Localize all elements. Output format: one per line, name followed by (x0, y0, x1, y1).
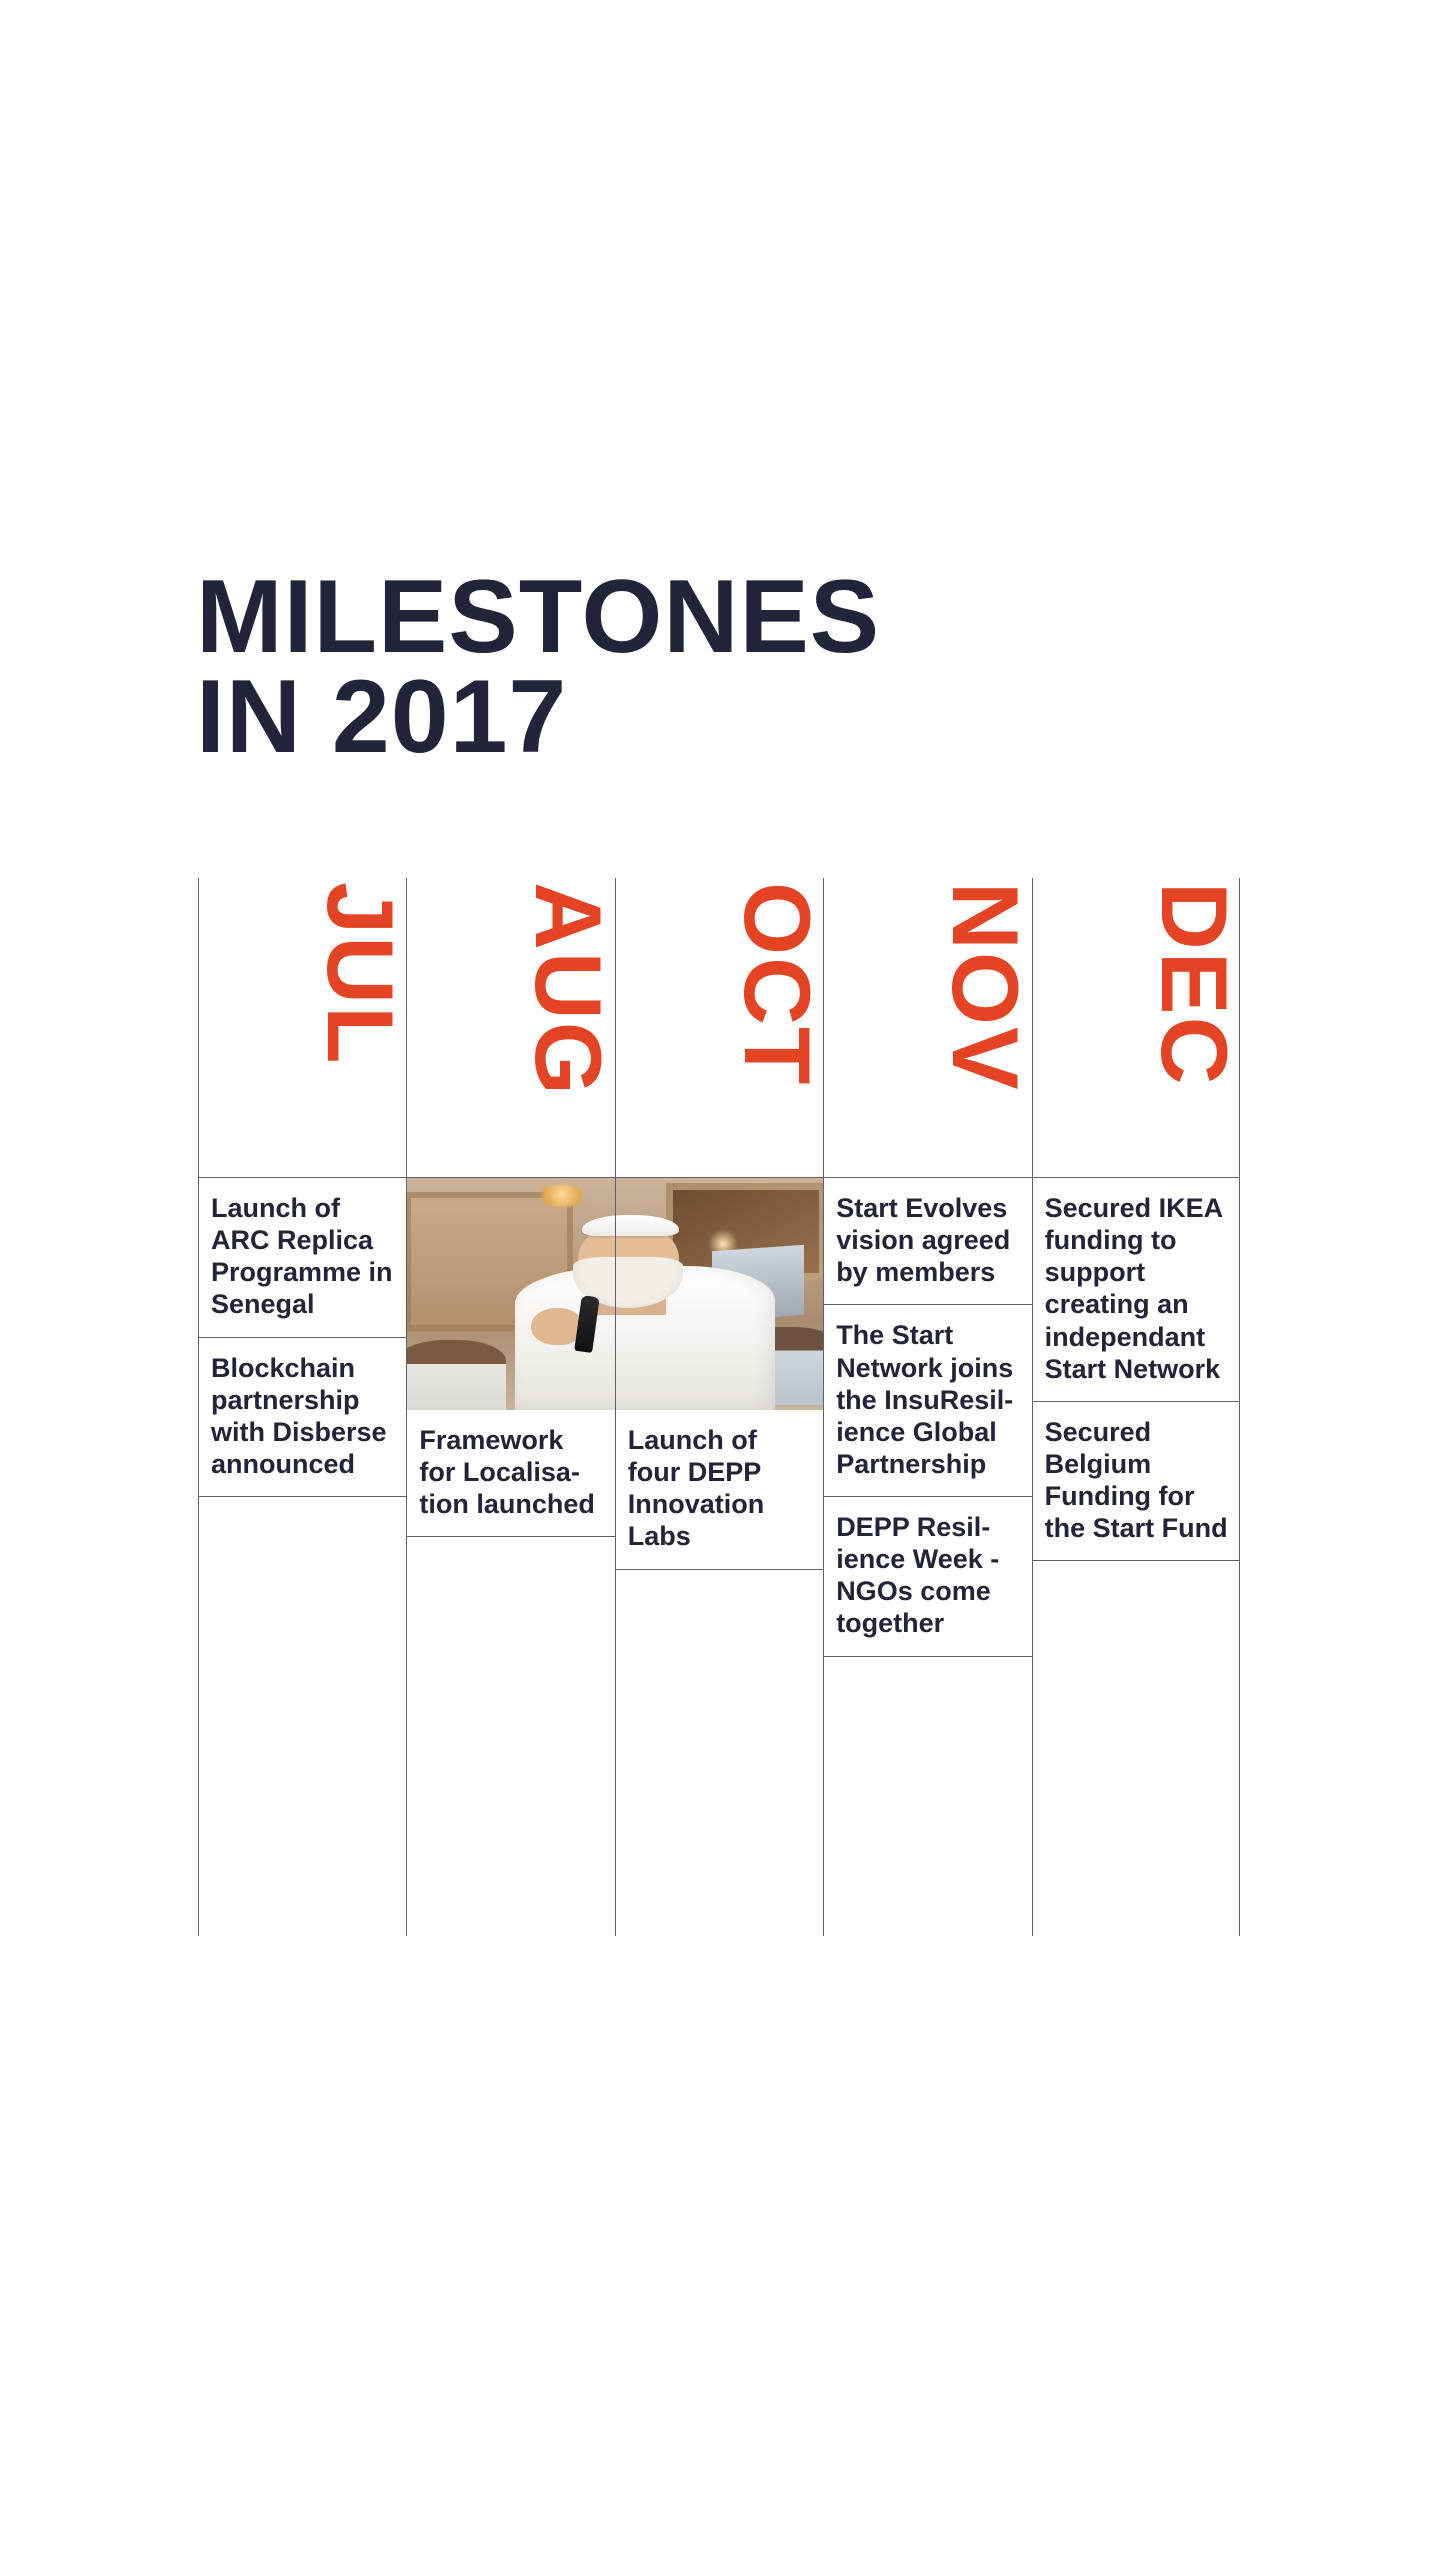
milestone-cell: Block­chain partner­ship with Disberse a… (199, 1338, 406, 1498)
page-title: MILESTONES IN 2017 (196, 568, 1196, 768)
photo-speaker-cap (582, 1215, 615, 1236)
month-column-dec: DEC Secured IKEA funding to sup­port cre… (1032, 878, 1240, 1936)
milestone-cell: Secured IKEA funding to sup­port creatin… (1033, 1178, 1239, 1402)
milestones-infographic-page: MILESTONES IN 2017 JUL Launch of ARC Rep… (0, 0, 1440, 2560)
empty-cell (199, 1497, 406, 1936)
page-title-line-1: MILESTONES (196, 568, 1196, 668)
month-label-jul: JUL (199, 878, 407, 1178)
month-header-nov: NOV (824, 878, 1031, 1178)
milestone-photo (407, 1178, 614, 1410)
month-label-nov: NOV (824, 878, 1032, 1178)
milestone-cell: Frame­work for Localisa­tion launched (407, 1410, 614, 1537)
month-body-aug: Frame­work for Localisa­tion launched (407, 1178, 614, 1936)
empty-cell (616, 1570, 823, 1937)
month-label-aug: AUG (407, 878, 615, 1178)
milestone-photo-continued (616, 1178, 823, 1410)
milestones-timeline: JUL Launch of ARC Replica Pro­gramme in … (198, 878, 1240, 1936)
empty-cell (1033, 1561, 1239, 1936)
month-body-nov: Start Evolves vision agreed by members T… (824, 1178, 1031, 1936)
month-header-dec: DEC (1033, 878, 1239, 1178)
milestone-cell: Secured Belgium Funding for the Start Fu… (1033, 1402, 1239, 1562)
month-body-dec: Secured IKEA funding to sup­port creatin… (1033, 1178, 1239, 1936)
milestone-cell: Launch of four DEPP Innova­tion Labs (616, 1410, 823, 1570)
milestone-cell: The Start Network joins the In­suResil­i… (824, 1305, 1031, 1497)
month-header-jul: JUL (199, 878, 406, 1178)
month-label-oct: OCT (616, 878, 824, 1178)
month-label-dec: DEC (1033, 878, 1241, 1178)
milestone-cell: DEPP Resil­ience Week - NGOs come to­get… (824, 1497, 1031, 1657)
empty-cell (824, 1657, 1031, 1937)
page-title-line-2: IN 2017 (196, 668, 1196, 768)
milestone-cell: Launch of ARC Replica Pro­gramme in Sene… (199, 1178, 406, 1338)
month-column-oct: OCT (615, 878, 823, 1936)
month-body-jul: Launch of ARC Replica Pro­gramme in Sene… (199, 1178, 406, 1936)
photo-ceiling-light (536, 1185, 588, 1207)
empty-cell (407, 1537, 614, 1936)
conference-photo-image-continued (616, 1178, 823, 1410)
month-body-oct: Launch of four DEPP Innova­tion Labs (616, 1178, 823, 1936)
photo-background-person-left (407, 1340, 506, 1410)
month-header-aug: AUG (407, 878, 614, 1178)
month-column-jul: JUL Launch of ARC Replica Pro­gramme in … (198, 878, 406, 1936)
milestone-cell: Start Evolves vision agreed by members (824, 1178, 1031, 1305)
month-header-oct: OCT (616, 878, 823, 1178)
month-column-nov: NOV Start Evolves vision agreed by membe… (823, 878, 1031, 1936)
conference-photo-image (407, 1178, 614, 1410)
photo-speaker-hand (531, 1308, 581, 1345)
month-column-aug: AUG (406, 878, 614, 1936)
